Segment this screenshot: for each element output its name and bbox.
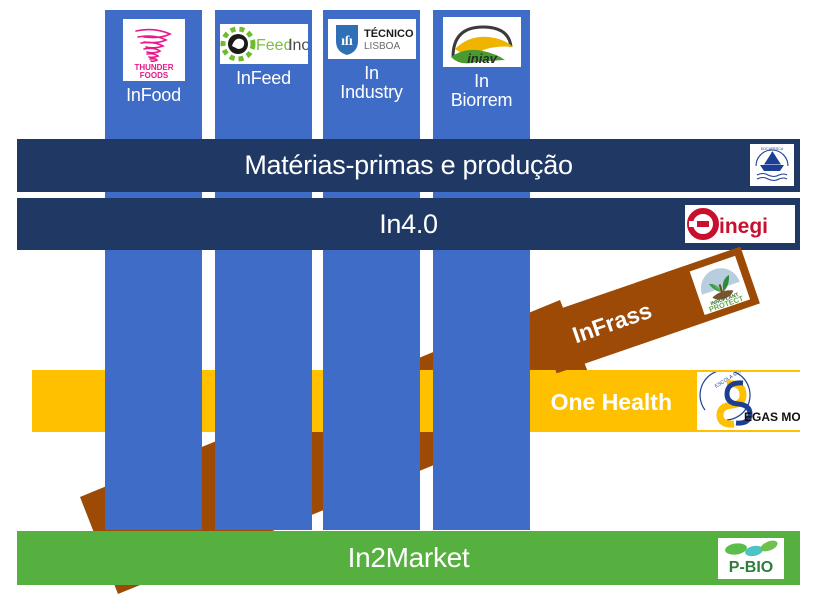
svg-text:inegi: inegi — [719, 215, 768, 238]
svg-text:Inov: Inov — [288, 37, 308, 54]
card-inindustry-label-line2: Industry — [340, 83, 402, 102]
band-one-health-title: One Health — [551, 389, 672, 416]
egas-moniz-logo: ESCOLA SUPERIOR DE SAÚDE EGAS MONIZ — [697, 372, 800, 430]
band-in2market-title: In2Market — [348, 542, 470, 574]
banner-infrass-label: InFrass — [569, 296, 655, 348]
banner-infrass[interactable]: InFrass INNOPLANT PROTECT — [537, 247, 760, 374]
card-inbiorrem-label: In Biorrem — [451, 72, 513, 110]
p-bio-logo: P-BIO — [718, 538, 784, 579]
tecnico-lisboa-logo: ıſı TÉCNICO LISBOA — [328, 19, 416, 59]
svg-text:EGAS MONIZ: EGAS MONIZ — [744, 410, 800, 424]
inegi-logo: inegi — [685, 205, 795, 243]
thunder-foods-logo: THUNDER FOODS — [123, 19, 185, 81]
card-inbiorrem-label-line2: Biorrem — [451, 91, 513, 110]
svg-text:ıſı: ıſı — [341, 34, 353, 49]
iniav-logo: iniav — [443, 17, 521, 67]
svg-text:DOCAPESCA: DOCAPESCA — [761, 147, 784, 151]
card-infood-label: InFood — [126, 86, 181, 105]
feedinov-logo: Feed Inov — [220, 24, 308, 64]
svg-text:TÉCNICO: TÉCNICO — [364, 27, 414, 40]
card-inindustry-label-line1: In — [340, 64, 402, 83]
band-in40[interactable]: In4.0 — [17, 198, 800, 250]
card-inindustry-label: In Industry — [340, 64, 402, 102]
card-infeed[interactable]: Feed Inov InFeed — [215, 10, 312, 133]
card-inindustry[interactable]: ıſı TÉCNICO LISBOA In Industry — [323, 10, 420, 133]
svg-text:Feed: Feed — [256, 37, 292, 54]
card-infeed-label: InFeed — [236, 69, 291, 88]
card-inbiorrem[interactable]: iniav In Biorrem — [433, 10, 530, 133]
svg-text:iniav: iniav — [467, 51, 497, 66]
diagram-canvas: One Health ESCOLA SUPERIOR DE SAÚDE EGAS… — [0, 0, 816, 594]
sailing-ship-logo: DOCAPESCA — [750, 144, 794, 186]
card-infood[interactable]: THUNDER FOODS InFood — [105, 10, 202, 133]
innoplant-protect-logo: INNOPLANT PROTECT — [690, 256, 750, 315]
thunder-foods-logo-text-bottom: FOODS — [139, 71, 168, 80]
card-inbiorrem-label-line1: In — [451, 72, 513, 91]
band-materias-primas[interactable]: Matérias-primas e produção — [17, 139, 800, 192]
band-in2market[interactable]: In2Market — [17, 531, 800, 585]
svg-text:LISBOA: LISBOA — [364, 41, 400, 52]
band-in40-title: In4.0 — [379, 209, 438, 240]
band-materias-primas-title: Matérias-primas e produção — [244, 150, 572, 181]
svg-text:P-BIO: P-BIO — [729, 559, 773, 576]
